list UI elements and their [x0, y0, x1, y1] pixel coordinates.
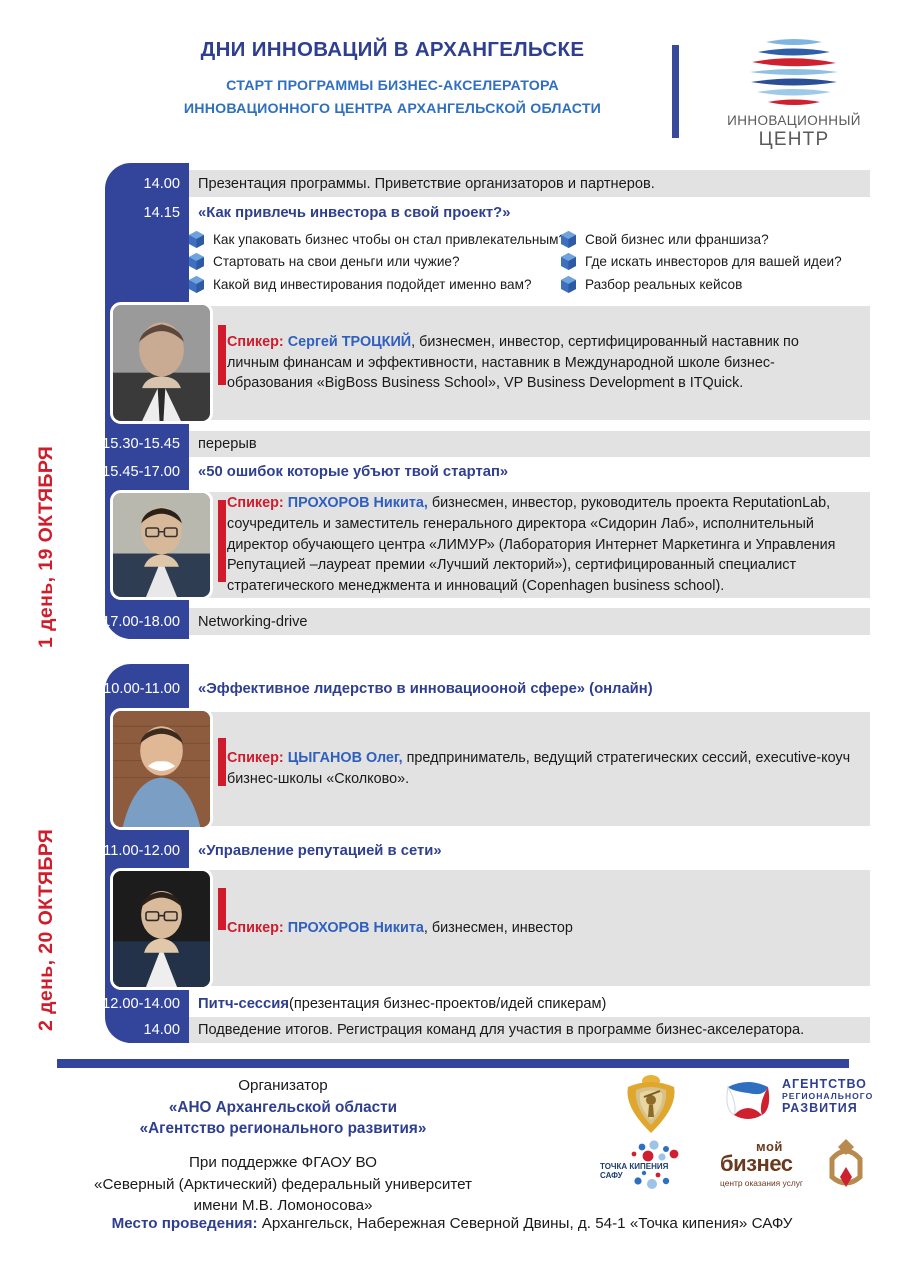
row-time: 15.45-17.00 [105, 459, 189, 485]
speaker-photo-tsyganov [110, 708, 213, 830]
row-time: 17.00-18.00 [105, 608, 189, 635]
list-item-label: Разбор реальных кейсов [585, 277, 742, 292]
speaker-label: Спикер: [227, 495, 284, 511]
row-text: «50 ошибок которые убъют твой стартап» [189, 459, 870, 485]
tochka-kipeniya-caption: ТОЧКА КИПЕНИЯ САФУ [600, 1163, 674, 1181]
speaker-label: Спикер: [227, 334, 284, 350]
list-item-label: Где искать инвесторов для вашей идеи? [585, 254, 842, 269]
accent-bar [218, 738, 226, 786]
list-item: Стартовать на свои деньги или чужие? [189, 253, 561, 270]
portrait-image [113, 305, 210, 421]
row-time: 14.00 [105, 170, 189, 197]
schedule-row: 15.45-17.00 «50 ошибок которые убъют тво… [105, 459, 870, 485]
speaker-bio-text: , бизнесмен, инвестор [424, 920, 573, 936]
organizer-name-line1: «АНО Архангельской области [48, 1097, 518, 1118]
schedule-row: 14.00 Подведение итогов. Регистрация ком… [105, 1017, 870, 1043]
speaker-label: Спикер: [227, 750, 284, 766]
row-text-rest: (презентация бизнес-проектов/идей спикер… [289, 996, 606, 1012]
logo-caption: ИННОВАЦИОННЫЙ ЦЕНТР [694, 114, 894, 149]
moy-biznes-caption: мой бизнес центр оказания услуг [720, 1139, 803, 1188]
footer-divider [57, 1059, 849, 1068]
speaker-card: Спикер: Сергей ТРОЦКИЙ, бизнесмен, инвес… [189, 306, 870, 420]
speaker-bio: Спикер: Сергей ТРОЦКИЙ, бизнесмен, инвес… [189, 332, 870, 394]
row-text: Networking-drive [189, 608, 870, 635]
globe-icon [694, 33, 894, 113]
coat-of-arms-icon [616, 1073, 686, 1137]
logo-caption-line2: ЦЕНТР [694, 130, 894, 149]
row-time: 11.00-12.00 [105, 838, 189, 864]
cube-bullet-icon [561, 231, 576, 248]
accent-bar [218, 500, 226, 582]
support-line2: «Северный (Арктический) федеральный унив… [48, 1174, 518, 1195]
cube-bullet-icon [189, 253, 204, 270]
schedule-row: 12.00-14.00 Питч-сессия (презентация биз… [105, 992, 870, 1016]
speaker-photo-prokhorov-2 [110, 868, 213, 990]
innovation-center-logo: ИННОВАЦИОННЫЙ ЦЕНТР [694, 33, 894, 157]
logo-caption-line1: ИННОВАЦИОННЫЙ [694, 114, 894, 128]
agency-regional-development-logo: АГЕНТСТВО РЕГИОНАЛЬНОГО РАЗВИТИЯ [720, 1075, 895, 1133]
portrait-image [113, 493, 210, 597]
speaker-bio: Спикер: ЦЫГАНОВ Олег, предприниматель, в… [189, 748, 870, 789]
tochka-kipeniya-safu-logo: ТОЧКА КИПЕНИЯ САФУ [600, 1139, 702, 1195]
cube-bullet-icon [189, 276, 204, 293]
speaker-name: ЦЫГАНОВ Олег, [288, 750, 403, 766]
page-subtitle-line2: ИННОВАЦИОННОГО ЦЕНТРА АРХАНГЕЛЬСКОЙ ОБЛА… [120, 98, 665, 121]
speaker-card: Спикер: ПРОХОРОВ Никита, бизнесмен, инве… [189, 870, 870, 986]
day2-label: 2 день, 20 ОКТЯБРЯ [35, 829, 58, 1031]
list-item-label: Свой бизнес или франшиза? [585, 232, 769, 247]
agency-caption-line2: РЕГИОНАЛЬНОГО [782, 1091, 873, 1101]
speaker-photo-prokhorov-1 [110, 490, 213, 600]
portrait-image [113, 711, 210, 827]
footer-organizer-block: Организатор «АНО Архангельской области «… [48, 1076, 518, 1216]
schedule-row: 15.30-15.45 перерыв [105, 431, 870, 457]
row-text: «Управление репутацией в сети» [189, 838, 870, 864]
cube-bullet-icon [561, 253, 576, 270]
row-time: 12.00-14.00 [105, 992, 189, 1016]
list-item-label: Как упаковать бизнес чтобы он стал привл… [213, 232, 566, 247]
speaker-photo-trotsky [110, 302, 213, 424]
footer-logos: ТОЧКА КИПЕНИЯ САФУ АГЕНТСТВО РЕГИОНАЛЬНО… [600, 1073, 900, 1205]
schedule-row: 14.15 «Как привлечь инвестора в свой про… [105, 199, 870, 226]
list-item-label: Стартовать на свои деньги или чужие? [213, 254, 460, 269]
speaker-bio: Спикер: ПРОХОРОВ Никита, бизнесмен, инве… [189, 493, 870, 596]
speaker-name: ПРОХОРОВ Никита [288, 920, 424, 936]
row-text: Подведение итогов. Регистрация команд дл… [189, 1017, 870, 1043]
list-item: Свой бизнес или франшиза? [561, 231, 870, 248]
day1-label: 1 день, 19 ОКТЯБРЯ [35, 446, 58, 648]
agency-mark-icon [720, 1079, 776, 1125]
session-topics-list: Как упаковать бизнес чтобы он стал привл… [189, 228, 870, 296]
schedule-row: 11.00-12.00 «Управление репутацией в сет… [105, 838, 870, 864]
list-item: Какой вид инвестирования подойдет именно… [189, 276, 561, 293]
venue-label: Место проведения: [112, 1215, 258, 1232]
schedule-row: 14.00 Презентация программы. Приветствие… [105, 170, 870, 197]
header-text-block: ДНИ ИННОВАЦИЙ В АРХАНГЕЛЬСКЕ СТАРТ ПРОГР… [120, 38, 665, 121]
accent-bar [218, 888, 226, 930]
header-divider [672, 45, 679, 138]
row-text: «Как привлечь инвестора в свой проект?» [189, 199, 870, 226]
cube-bullet-icon [561, 276, 576, 293]
schedule-row: 10.00-11.00 «Эффективное лидерство в инн… [105, 676, 870, 702]
support-line1: При поддержке ФГАОУ ВО [48, 1152, 518, 1173]
support-line3: имени М.В. Ломоносова» [48, 1195, 518, 1216]
row-text: «Эффективное лидерство в инновациооной с… [189, 676, 870, 702]
page-title: ДНИ ИННОВАЦИЙ В АРХАНГЕЛЬСКЕ [120, 38, 665, 62]
speaker-card: Спикер: ЦЫГАНОВ Олег, предприниматель, в… [189, 712, 870, 826]
page-header: ДНИ ИННОВАЦИЙ В АРХАНГЕЛЬСКЕ СТАРТ ПРОГР… [0, 0, 904, 158]
list-item: Как упаковать бизнес чтобы он стал привл… [189, 231, 561, 248]
row-time: 14.15 [105, 199, 189, 226]
organizer-label: Организатор [48, 1076, 518, 1097]
speaker-card: Спикер: ПРОХОРОВ Никита, бизнесмен, инве… [189, 492, 870, 598]
moy-biznes-line2: бизнес [720, 1154, 803, 1175]
cube-bullet-icon [189, 231, 204, 248]
list-item: Разбор реальных кейсов [561, 276, 870, 293]
row-time: 10.00-11.00 [105, 676, 189, 702]
row-text: перерыв [189, 431, 870, 457]
page-subtitle: СТАРТ ПРОГРАММЫ БИЗНЕС-АКСЕЛЕРАТОРА ИННО… [120, 75, 665, 121]
rocket-pin-icon [824, 1137, 868, 1193]
venue-text: Архангельск, Набережная Северной Двины, … [258, 1215, 793, 1232]
arkhangelsk-region-coat-of-arms [616, 1073, 686, 1137]
speaker-bio: Спикер: ПРОХОРОВ Никита, бизнесмен, инве… [189, 918, 589, 939]
row-text: Питч-сессия (презентация бизнес-проектов… [189, 992, 870, 1016]
speaker-name: ПРОХОРОВ Никита, [288, 495, 428, 511]
row-time: 14.00 [105, 1017, 189, 1043]
page-subtitle-line1: СТАРТ ПРОГРАММЫ БИЗНЕС-АКСЕЛЕРАТОРА [120, 75, 665, 98]
list-item: Где искать инвесторов для вашей идеи? [561, 253, 870, 270]
venue-line: Место проведения: Архангельск, Набережна… [0, 1215, 904, 1232]
agency-caption-line1: АГЕНТСТВО [782, 1077, 873, 1091]
speaker-name: Сергей ТРОЦКИЙ [288, 334, 411, 350]
schedule-row: 17.00-18.00 Networking-drive [105, 608, 870, 635]
moy-biznes-line3: центр оказания услуг [720, 1178, 803, 1188]
portrait-image [113, 871, 210, 987]
accent-bar [218, 325, 226, 385]
row-text: Презентация программы. Приветствие орган… [189, 170, 870, 197]
agency-caption: АГЕНТСТВО РЕГИОНАЛЬНОГО РАЗВИТИЯ [782, 1077, 873, 1115]
row-text-highlight: Питч-сессия [198, 996, 289, 1012]
agency-caption-line3: РАЗВИТИЯ [782, 1101, 873, 1115]
speaker-label: Спикер: [227, 920, 284, 936]
moy-biznes-logo: мой бизнес центр оказания услуг [720, 1139, 895, 1197]
list-item-label: Какой вид инвестирования подойдет именно… [213, 277, 532, 292]
organizer-name-line2: «Агентство регионального развития» [48, 1118, 518, 1139]
row-time: 15.30-15.45 [105, 431, 189, 457]
